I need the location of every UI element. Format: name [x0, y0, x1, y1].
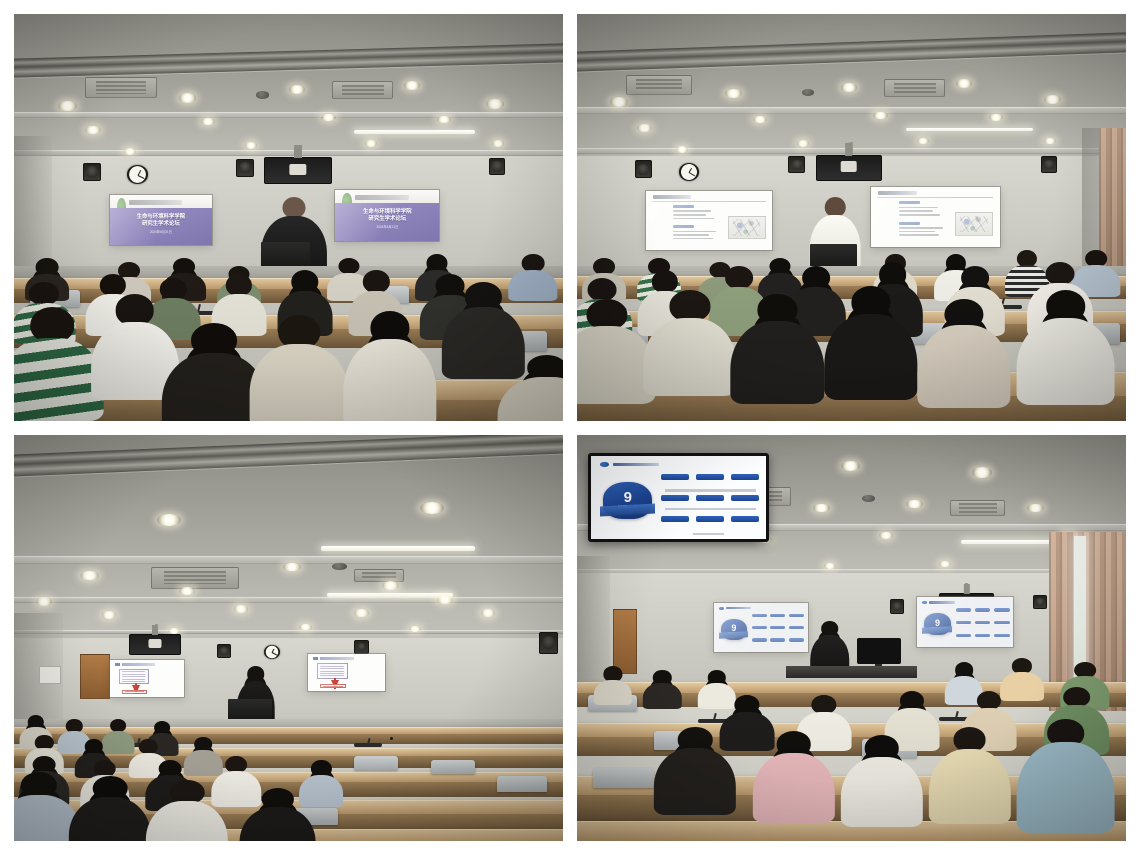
audience-torso [239, 807, 316, 841]
brand-logo-icon [719, 607, 724, 610]
ac-vent-right [332, 81, 392, 99]
audience-member [1016, 290, 1115, 396]
audience-member [69, 776, 151, 841]
slide-button [752, 626, 767, 629]
audience-torso [343, 339, 436, 420]
tube-light [354, 130, 475, 134]
clock-hand-minute [137, 175, 144, 179]
slide-button [956, 621, 971, 624]
downlight [102, 611, 116, 618]
photo-top-right [577, 14, 1126, 421]
audience-torso [497, 377, 563, 421]
slide-button [770, 614, 785, 617]
audience-torso [69, 797, 151, 841]
content-slide-left [646, 191, 772, 250]
slide-line [673, 231, 716, 233]
slide-row-text [665, 489, 756, 492]
projection-screen-left: 生命与环境科学学院 研究生学术论坛 2024年6月21日 [110, 195, 212, 245]
ceiling-projector [129, 634, 181, 655]
flowchart-slide-left [110, 660, 184, 697]
slide-line [673, 234, 708, 236]
audience-member [250, 315, 349, 421]
downlight [1044, 95, 1061, 104]
audience-head [36, 258, 59, 276]
box-line [320, 671, 344, 672]
audience-torso [1016, 742, 1115, 833]
slide-button [975, 634, 990, 637]
wood-door [613, 609, 638, 674]
speaker-far-right [1041, 156, 1057, 172]
slide-button [661, 474, 689, 480]
downlight [637, 124, 652, 132]
slide-button [994, 608, 1009, 611]
badge-number: 9 [624, 491, 632, 505]
audience-member [1016, 719, 1115, 825]
badge-ribbon [922, 626, 952, 633]
badge-ribbon [719, 631, 748, 638]
box-line [320, 675, 344, 676]
result-text [323, 686, 343, 687]
speaker-left [83, 163, 102, 182]
presenter-head [825, 197, 846, 217]
projection-screen-left [110, 660, 184, 697]
downlight [58, 101, 77, 111]
badge-emblem: 9 母港工大 [603, 482, 652, 519]
audience-member [643, 290, 736, 388]
downlight [610, 97, 628, 106]
slide-line [673, 218, 713, 220]
downlight [404, 81, 420, 90]
speaker-right [1033, 595, 1047, 609]
slide-brand [719, 606, 751, 610]
brand-logo-icon [600, 462, 610, 468]
photo-bottom-right: 9 母港工大 [577, 435, 1126, 842]
projection-screen-left: 9 母港工大 [714, 603, 807, 652]
audience-head [29, 282, 59, 305]
slide-button [994, 621, 1009, 624]
downlight [956, 79, 972, 88]
audience-member [497, 355, 563, 420]
ac-vent-right [354, 569, 403, 583]
audience-member [14, 307, 102, 413]
audience-torso [917, 325, 1010, 408]
brand-logo-icon [922, 601, 927, 605]
slide-result-box [320, 684, 346, 688]
slide-button-grid [752, 614, 804, 648]
slide-row-text [665, 508, 756, 511]
slide-button [752, 614, 767, 617]
speaker-right [236, 159, 254, 177]
slide-button [696, 474, 724, 480]
downlight [939, 561, 951, 567]
slide-button [994, 634, 1009, 637]
audience-member [928, 727, 1010, 816]
box-line [320, 666, 344, 667]
slide-heading-bar [878, 191, 917, 195]
slide-button [789, 614, 804, 617]
audience-torso [250, 344, 349, 420]
downlight [299, 624, 311, 630]
audience-member [239, 788, 316, 841]
ceiling-projector [264, 157, 333, 184]
audience-torso [753, 753, 835, 823]
slide-title-text [122, 663, 155, 666]
slide-figure [728, 216, 766, 240]
audience-head [31, 307, 74, 343]
chair-back [354, 756, 398, 771]
projection-screen-left [646, 191, 772, 250]
downlight [841, 83, 857, 92]
downlight [437, 595, 453, 604]
clock-hand-minute [272, 652, 277, 656]
slide-line [899, 214, 940, 216]
audience-torso [593, 680, 631, 705]
audience-member [824, 286, 917, 392]
audience-torso [643, 318, 736, 396]
box-line [122, 679, 145, 680]
slide-line [899, 210, 933, 212]
wall-notice [39, 666, 61, 684]
downlight [797, 140, 809, 147]
audience-torso [841, 757, 923, 827]
ac-vent-right [950, 500, 1005, 516]
flowchart-slide-right [308, 654, 385, 691]
slide-content-box [119, 669, 149, 684]
smoke-detector [332, 563, 346, 571]
downlight [409, 626, 421, 632]
badge-slide-tv: 9 母港工大 [591, 456, 766, 539]
projection-screen-right [871, 187, 1000, 247]
downlight [972, 467, 992, 478]
desk-row-5 [14, 727, 563, 734]
speaker-left [890, 599, 904, 614]
audience-torso [643, 683, 681, 709]
downlight [824, 563, 836, 569]
downlight [354, 609, 368, 616]
downlight [906, 500, 922, 509]
downlight [85, 126, 100, 134]
downlight [420, 502, 444, 514]
audience-torso [928, 749, 1010, 824]
wall-mounted-tv[interactable]: 9 母港工大 [588, 453, 769, 542]
audience-member [654, 727, 736, 808]
downlight [365, 140, 377, 147]
audience-member [146, 780, 228, 841]
ac-vent-left [626, 75, 692, 95]
presenter-head [821, 621, 839, 636]
slide-line [673, 214, 706, 216]
speaker-far-right [489, 158, 505, 175]
box-line [122, 674, 145, 675]
audience-member [343, 311, 436, 421]
slide-heading-rule [877, 197, 993, 198]
speaker-left [217, 644, 231, 659]
slide-button [975, 608, 990, 611]
slide-title-date: 2024年6月21日 [128, 229, 193, 234]
result-text [125, 691, 145, 692]
presenter-head [247, 666, 265, 682]
speaker-left [635, 160, 653, 178]
chair-back [497, 776, 546, 792]
slide-title-line2: 研究生学术论坛 [120, 219, 201, 227]
slide-line [899, 234, 939, 236]
ac-vent-right [884, 79, 944, 97]
wall-clock [264, 645, 280, 659]
downlight [168, 628, 180, 634]
slide-title-marker [115, 663, 120, 666]
tube-light [906, 128, 1032, 132]
slide-brand [600, 461, 660, 469]
slide-line [673, 238, 712, 240]
audience-member [643, 670, 681, 707]
downlight [481, 609, 495, 616]
box-line [122, 676, 145, 677]
wall-clock [679, 163, 700, 181]
side-wall-left [14, 136, 52, 278]
audience-torso [824, 314, 917, 401]
downlight [486, 99, 504, 108]
ceiling-soffit-2 [14, 150, 563, 156]
chair-back [431, 760, 475, 775]
brand-wordmark [929, 601, 954, 603]
content-slide-right [871, 187, 1000, 247]
slide-button [975, 621, 990, 624]
ceiling-soffit-2 [14, 597, 563, 603]
brand-wordmark [726, 607, 751, 609]
box-line [122, 681, 145, 682]
speaker-right [788, 156, 805, 173]
presenter-head [282, 197, 305, 218]
desk-microphone [354, 743, 381, 747]
slide-title-marker [313, 657, 318, 660]
chair-back [593, 768, 653, 788]
downlight [36, 597, 52, 606]
downlight [321, 114, 335, 122]
audience-member [731, 294, 824, 396]
projection-screen-right [308, 654, 385, 691]
projection-screen-right: 生命与环境科学学院 研究生学术论坛 2024年6月21日 [335, 190, 439, 241]
audience-head [363, 270, 389, 293]
downlight [1027, 504, 1043, 513]
ceiling-soffit-1 [14, 112, 563, 119]
wood-door [80, 654, 110, 699]
slide-button-grid [661, 474, 759, 532]
audience-torso [731, 321, 824, 404]
downlight [813, 504, 829, 513]
photo-collage: 生命与环境科学学院 研究生学术论坛 2024年6月21日 生命与环境科学学院 研… [0, 0, 1140, 855]
slide-button [770, 638, 785, 641]
audience-torso [146, 801, 228, 841]
box-line [320, 673, 344, 674]
slide-button [789, 626, 804, 629]
badge-number: 9 [935, 619, 940, 628]
title-slide-left: 生命与环境科学学院 研究生学术论坛 2024年6月21日 [110, 195, 212, 245]
smoke-detector [256, 91, 269, 98]
badge-emblem: 9 母港工大 [721, 619, 747, 640]
slide-title-date: 2024年6月21日 [354, 224, 421, 229]
slide-section-1 [673, 205, 693, 208]
audience-torso [1016, 318, 1115, 405]
school-logo-wordmark [355, 195, 409, 200]
projection-screen-right: 9 母港工大 [917, 597, 1013, 647]
school-logo-wordmark [129, 200, 182, 205]
downlight [157, 514, 181, 526]
downlight [873, 112, 887, 120]
downlight [492, 140, 504, 147]
tube-light [327, 593, 453, 597]
speaker-far-right [539, 632, 558, 654]
audience-head [291, 270, 318, 293]
slide-button [789, 638, 804, 641]
ceiling-projector [816, 155, 882, 181]
presenter-monitor [857, 638, 901, 664]
clock-hand-minute [689, 172, 696, 176]
slide-button [731, 516, 759, 522]
title-slide-right: 生命与环境科学学院 研究生学术论坛 2024年6月21日 [335, 190, 439, 241]
slide-content-box [317, 663, 348, 679]
audience-member [593, 666, 631, 703]
slide-section-2 [899, 222, 920, 225]
slide-title-text [320, 657, 354, 660]
badge-slide-left: 9 母港工大 [714, 603, 807, 652]
audience-member [753, 731, 835, 816]
audience-torso [654, 748, 736, 815]
ceiling-soffit-1 [577, 107, 1126, 114]
speaker-right [354, 640, 368, 654]
audience-member [917, 299, 1010, 401]
slide-line [673, 210, 711, 212]
badge-emblem: 9 母港工大 [924, 613, 951, 635]
slide-heading-rule [652, 201, 766, 202]
downlight [245, 142, 257, 149]
audience-member [841, 735, 923, 820]
slide-button [956, 608, 971, 611]
slide-button [770, 626, 785, 629]
slide-title-line2: 研究生学术论坛 [346, 214, 429, 222]
box-line [320, 668, 344, 669]
slide-section-1 [899, 201, 920, 204]
presenter-desk [786, 666, 918, 678]
slide-result-box [122, 690, 147, 694]
slide-button [752, 638, 767, 641]
badge-slide-right: 9 母港工大 [917, 597, 1013, 647]
tube-light [321, 546, 475, 550]
slide-button [731, 474, 759, 480]
wall-clock [127, 165, 149, 184]
downlight [289, 85, 305, 94]
slide-button [661, 495, 689, 501]
slide-button [731, 495, 759, 501]
downlight [179, 93, 197, 102]
badge-ribbon [600, 503, 655, 515]
slide-section-2 [673, 225, 693, 228]
photo-bottom-left [14, 435, 563, 842]
downlight [80, 571, 99, 581]
slide-button [696, 516, 724, 522]
slide-button [661, 516, 689, 522]
tv-screen: 9 母港工大 [591, 456, 766, 539]
slide-line [899, 231, 935, 233]
ac-vent-center [151, 567, 239, 589]
brand-wordmark [613, 463, 659, 467]
slide-line [899, 227, 943, 229]
slide-button-grid [956, 608, 1010, 643]
downlight [382, 581, 400, 590]
photo-top-left: 生命与环境科学学院 研究生学术论坛 2024年6月21日 生命与环境科学学院 研… [14, 14, 563, 421]
slide-figure [955, 212, 994, 236]
slide-line [899, 207, 938, 209]
box-line [122, 671, 145, 672]
slide-heading-bar [653, 195, 691, 199]
ceiling-soffit-3 [14, 630, 563, 635]
downlight [234, 605, 248, 612]
slide-button [696, 495, 724, 501]
slide-button [956, 634, 971, 637]
slide-row-text [693, 533, 725, 536]
downlight [283, 563, 301, 572]
slide-brand [922, 600, 955, 605]
ac-vent-left [85, 77, 156, 98]
